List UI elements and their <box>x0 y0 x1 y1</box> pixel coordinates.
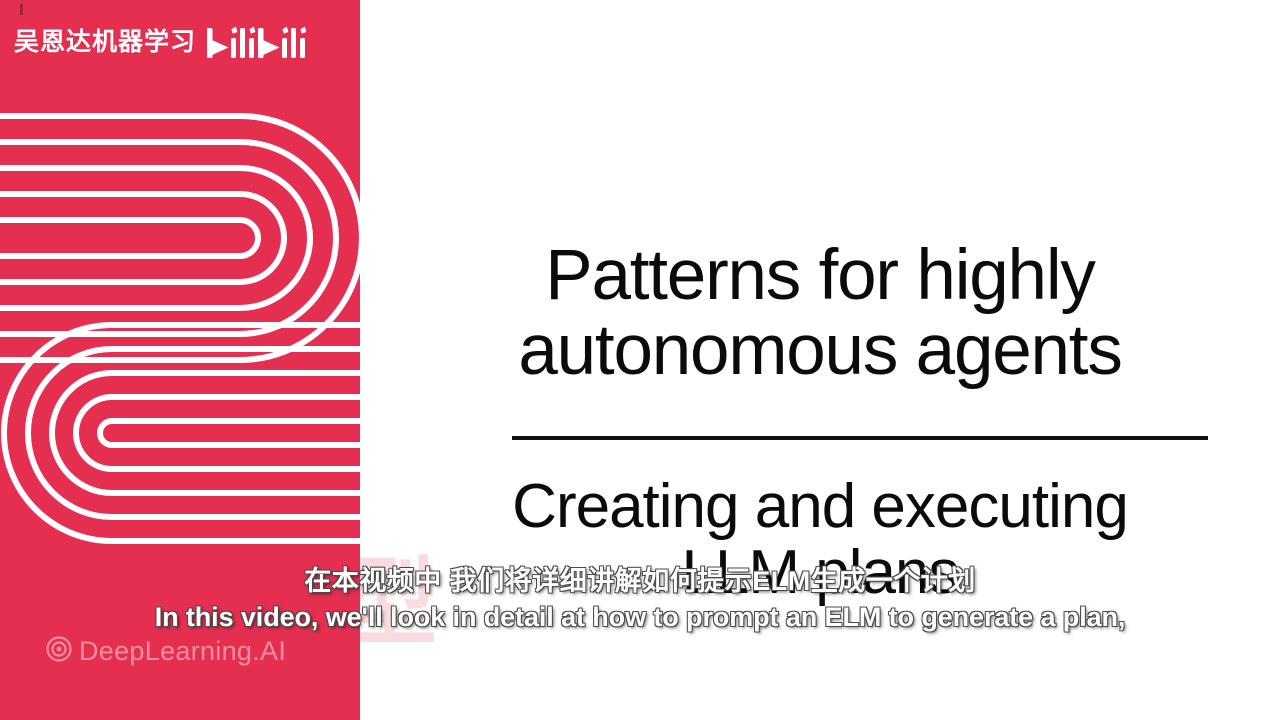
brand-header: 吴恩达机器学习 <box>14 24 306 60</box>
decorative-arc-group-bottom <box>0 318 360 548</box>
title-divider <box>512 436 1208 440</box>
corner-artifact <box>20 4 23 15</box>
slide-subtitle-line-2: LLM plans <box>420 540 1220 606</box>
title-block: Patterns for highly autonomous agents Cr… <box>360 0 1280 720</box>
slide-content-area: Patterns for highly autonomous agents Cr… <box>360 0 1280 720</box>
slide-title-line-1: Patterns for highly <box>420 238 1220 313</box>
slide-subtitle: Creating and executing LLM plans <box>420 474 1220 607</box>
video-frame: 吴恩达机器学习 <box>0 0 1280 720</box>
channel-title: 吴恩达机器学习 <box>14 30 196 55</box>
deeplearning-ai-mark-icon <box>46 636 72 667</box>
slide-subtitle-line-1: Creating and executing <box>420 474 1220 540</box>
deeplearning-ai-watermark: DeepLearning.AI <box>46 636 286 667</box>
brand-panel: 吴恩达机器学习 <box>0 0 360 720</box>
slide-title: Patterns for highly autonomous agents <box>420 238 1220 389</box>
slide-title-line-2: autonomous agents <box>420 313 1220 388</box>
deeplearning-ai-wordmark: DeepLearning.AI <box>79 638 286 665</box>
bilibili-logo-icon <box>206 24 306 60</box>
